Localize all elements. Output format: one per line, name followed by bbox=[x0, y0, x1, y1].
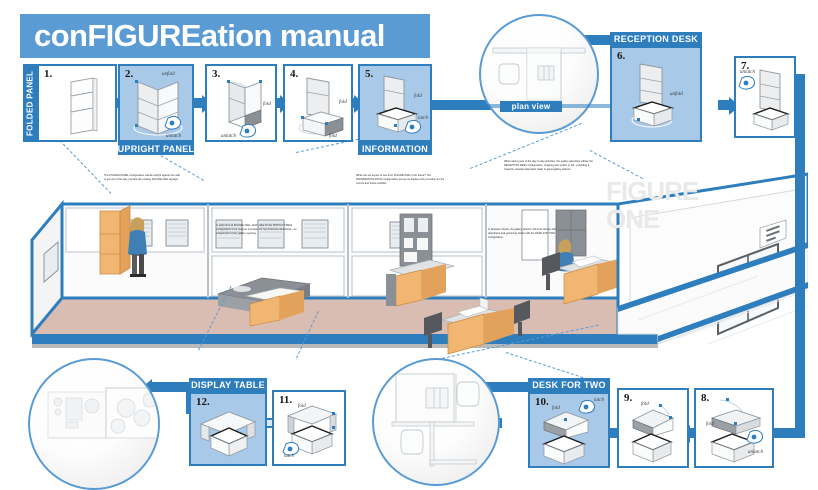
step-8[interactable]: 8. fold unlatch bbox=[694, 388, 774, 468]
step-5-annotation-fold: fold bbox=[414, 94, 422, 99]
step-4[interactable]: 4. fold fold bbox=[283, 64, 353, 142]
step-11[interactable]: 11. fold latch bbox=[272, 390, 346, 466]
hand-unlatch-icon bbox=[747, 430, 763, 443]
step-11-annotation-fold: fold bbox=[298, 404, 306, 409]
wall-text-figure: FIGURE bbox=[606, 176, 698, 207]
step-8-annotation-unlatch: unlatch bbox=[748, 450, 763, 455]
step-6-number: 6. bbox=[617, 50, 625, 62]
step-6-annotation-unfold: unfold bbox=[670, 92, 683, 97]
hand-unlatch-icon bbox=[739, 76, 755, 89]
step-7-annotation-unlatch: unlatch bbox=[740, 70, 755, 75]
caption-reception-desk: When taking care of the day-to-day activ… bbox=[504, 160, 596, 171]
step-8-annotation-fold-1: fold bbox=[706, 422, 714, 427]
category-label-display-table: DISPLAY TABLE bbox=[189, 378, 267, 392]
caption-display-table: In party time at FIGURE ONE, which calls… bbox=[216, 224, 300, 235]
step-4-annotation-fold-1: fold bbox=[339, 100, 347, 105]
step-3-number: 3. bbox=[212, 68, 220, 80]
step-3-annotation-fold: fold bbox=[263, 102, 271, 107]
step-2-annotation-unlatch: unlatch bbox=[166, 134, 181, 139]
step-10[interactable]: 10. fold latch bbox=[528, 392, 610, 468]
step-4-annotation-fold-2: fold bbox=[329, 134, 337, 139]
step-9-number: 9. bbox=[624, 392, 632, 404]
step-4-number: 4. bbox=[290, 68, 298, 80]
caption-information: What can we expect to see from FIGURE ON… bbox=[356, 174, 446, 185]
caption-desk-for-two: In between shows, the gallery director w… bbox=[488, 228, 566, 239]
step-2-number: 2. bbox=[125, 68, 133, 80]
step-2[interactable]: 2. unfold unlatch bbox=[118, 64, 194, 142]
desk-for-two-plan-callout-circle bbox=[372, 358, 500, 486]
step-10-annotation-fold: fold bbox=[552, 406, 560, 411]
hand-latch-icon bbox=[579, 400, 595, 413]
caption-folded-panel: The FOLDED PANEL configuration stands up… bbox=[104, 174, 182, 182]
category-label-desk-for-two: DESK FOR TWO bbox=[528, 378, 610, 392]
step-12[interactable]: 12. bbox=[189, 392, 267, 466]
plan-view-callout-circle bbox=[479, 14, 599, 134]
step-10-number: 10. bbox=[535, 396, 549, 408]
step-2-annotation-unfold: unfold bbox=[162, 72, 175, 77]
gallery-isometric-illustration: FIGURE ONE The FOLDED PANEL configuratio… bbox=[18, 148, 808, 360]
display-table-detail-callout-circle bbox=[28, 358, 160, 490]
step-9-annotation-fold: fold bbox=[641, 402, 649, 407]
step-8-number: 8. bbox=[701, 392, 709, 404]
step-6[interactable]: 6. unfold bbox=[610, 46, 702, 142]
category-label-reception-desk: RECEPTION DESK bbox=[610, 32, 702, 46]
step-1[interactable]: 1. bbox=[37, 64, 117, 142]
step-7[interactable]: 7. unlatch bbox=[734, 56, 796, 138]
step-9[interactable]: 9. fold bbox=[617, 388, 689, 468]
poster-title-bar: conFIGUREation manual bbox=[20, 14, 430, 58]
step-11-number: 11. bbox=[279, 394, 292, 406]
step-12-number: 12. bbox=[196, 396, 210, 408]
step-3[interactable]: 3. fold unlatch bbox=[205, 64, 277, 142]
step-1-number: 1. bbox=[44, 68, 52, 80]
step-10-annotation-latch: latch bbox=[594, 398, 604, 403]
category-label-upright-panel: UPRIGHT PANEL bbox=[118, 142, 194, 155]
step-5-number: 5. bbox=[365, 68, 373, 80]
step-5-annotation-latch: latch bbox=[418, 116, 428, 121]
step-5[interactable]: 5. fold latch bbox=[358, 64, 432, 142]
step-11-annotation-latch: latch bbox=[284, 454, 294, 459]
wall-text-one: ONE bbox=[606, 204, 659, 235]
category-label-information: INFORMATION bbox=[358, 142, 432, 155]
category-label-folded-panel: FOLDED PANEL bbox=[23, 64, 37, 142]
page-title: conFIGUREation manual bbox=[20, 18, 385, 54]
plan-view-label: plan view bbox=[500, 101, 562, 112]
step-3-annotation-unlatch: unlatch bbox=[221, 134, 236, 139]
poster-canvas: conFIGUREation manual bbox=[0, 0, 818, 486]
